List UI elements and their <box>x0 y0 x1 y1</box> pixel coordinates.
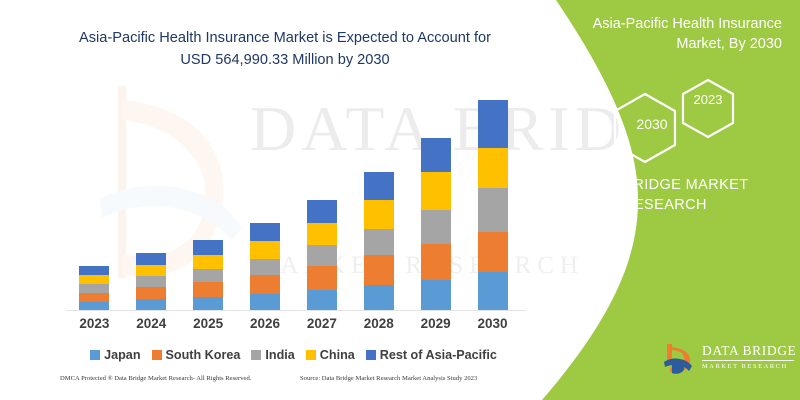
hexagon-label-2030: 2030 <box>620 116 684 132</box>
chart-bar-segment <box>193 269 223 282</box>
chart-bar-segment <box>307 223 337 245</box>
chart-legend-item[interactable]: Japan <box>90 348 140 362</box>
chart-bar-segment <box>307 200 337 223</box>
chart-bar-segment <box>250 241 280 259</box>
hexagon-badges: 2030 2023 <box>598 76 788 166</box>
chart-bar-segment <box>364 255 394 285</box>
infographic-page: DATA BRIDGE MARKET RESEARCH Asia-Pacific… <box>0 0 800 400</box>
chart-bar-segment <box>421 172 451 210</box>
chart-title-line-1: Asia-Pacific Health Insurance Market is … <box>60 27 510 49</box>
chart-bar <box>193 240 223 310</box>
chart-bar-segment <box>478 188 508 232</box>
chart-x-label: 2023 <box>66 316 122 331</box>
chart-bar <box>364 172 394 310</box>
panel-title-line-2: Market, By 2030 <box>567 34 782 54</box>
chart-bar-segment <box>421 280 451 310</box>
chart-bar-segment <box>79 293 109 302</box>
chart-bar-segment <box>136 299 166 310</box>
chart-bar-segment <box>193 282 223 297</box>
chart-title: Asia-Pacific Health Insurance Market is … <box>60 27 510 71</box>
chart-bar-segment <box>136 265 166 276</box>
chart-plot-area <box>66 86 521 310</box>
chart-bar-segment <box>421 210 451 244</box>
chart-x-label: 2025 <box>180 316 236 331</box>
chart-legend-item[interactable]: Rest of Asia-Pacific <box>366 348 497 362</box>
chart-x-label: 2024 <box>123 316 179 331</box>
footer-copyright: DMCA Protected ® Data Bridge Market Rese… <box>60 375 251 382</box>
databridge-logo: DATA BRIDGE MARKET RESEARCH <box>662 340 792 382</box>
chart-bar <box>79 266 109 310</box>
panel-title: Asia-Pacific Health Insurance Market, By… <box>567 14 782 54</box>
chart-bar <box>478 100 508 310</box>
databridge-b-logo-icon <box>662 342 696 376</box>
chart-bar <box>136 253 166 310</box>
chart-bar-segment <box>193 240 223 255</box>
chart-bar-segment <box>250 294 280 310</box>
panel-title-line-1: Asia-Pacific Health Insurance <box>567 14 782 34</box>
chart-x-label: 2030 <box>465 316 521 331</box>
chart-legend-item[interactable]: South Korea <box>152 348 241 362</box>
chart-title-line-2: USD 564,990.33 Million by 2030 <box>60 49 510 71</box>
hexagon-label-2023: 2023 <box>678 92 738 107</box>
chart-bar-segment <box>421 138 451 172</box>
chart-legend-item[interactable]: China <box>306 348 355 362</box>
chart-legend-label: China <box>320 348 355 362</box>
chart-bar <box>250 223 280 310</box>
chart-legend-swatch <box>152 350 162 360</box>
chart-legend-label: Rest of Asia-Pacific <box>380 348 497 362</box>
chart-bar-segment <box>478 232 508 272</box>
chart-bar-segment <box>307 245 337 266</box>
chart-x-label: 2026 <box>237 316 293 331</box>
chart-bar-segment <box>193 297 223 310</box>
chart-bar-segment <box>79 284 109 293</box>
chart-bar-segment <box>478 148 508 188</box>
chart-bar-segment <box>364 229 394 255</box>
logo-main-text: DATA BRIDGE <box>702 343 794 361</box>
chart-bar-segment <box>79 302 109 310</box>
chart-legend-swatch <box>90 350 100 360</box>
chart-x-label: 2028 <box>351 316 407 331</box>
chart-bar-segment <box>364 172 394 200</box>
chart-bar-segment <box>79 275 109 284</box>
chart-bar-segment <box>421 244 451 280</box>
chart-bar-segment <box>478 272 508 310</box>
chart-legend: JapanSouth KoreaIndiaChinaRest of Asia-P… <box>66 345 521 365</box>
chart-legend-label: India <box>265 348 294 362</box>
chart-bar-segment <box>364 200 394 229</box>
chart-bar-segment <box>136 253 166 265</box>
panel-brand-line-2: RESEARCH <box>550 195 780 215</box>
chart-bar <box>307 200 337 310</box>
chart-bar-segment <box>136 276 166 287</box>
logo-sub-text: MARKET RESEARCH <box>702 363 794 370</box>
chart-legend-swatch <box>306 350 316 360</box>
chart-x-label: 2029 <box>408 316 464 331</box>
chart-baseline <box>66 310 526 311</box>
chart-legend-label: Japan <box>104 348 140 362</box>
panel-brand-line-1: DATA BRIDGE MARKET <box>550 175 780 195</box>
chart-legend-swatch <box>251 350 261 360</box>
databridge-logo-text: DATA BRIDGE MARKET RESEARCH <box>702 343 794 370</box>
chart-bar-segment <box>250 275 280 294</box>
chart-bar-segment <box>136 287 166 299</box>
chart-bar-segment <box>79 266 109 275</box>
footer-source: Source: Data Bridge Market Research Mark… <box>300 375 477 382</box>
chart-bar <box>421 138 451 310</box>
chart-legend-label: South Korea <box>166 348 241 362</box>
chart-legend-swatch <box>366 350 376 360</box>
chart-bar-segment <box>250 223 280 241</box>
panel-brand-text: DATA BRIDGE MARKET RESEARCH <box>550 175 780 215</box>
chart-legend-item[interactable]: India <box>251 348 294 362</box>
chart-bar-segment <box>193 255 223 269</box>
chart-bar-segment <box>478 100 508 148</box>
chart-x-label: 2027 <box>294 316 350 331</box>
chart-bar-segment <box>250 259 280 275</box>
panel-content: Asia-Pacific Health Insurance Market, By… <box>520 0 800 400</box>
chart-bar-segment <box>307 290 337 310</box>
chart-bar-segment <box>364 285 394 310</box>
chart-bar-segment <box>307 266 337 290</box>
chart-x-axis-labels: 20232024202520262027202820292030 <box>66 316 521 336</box>
